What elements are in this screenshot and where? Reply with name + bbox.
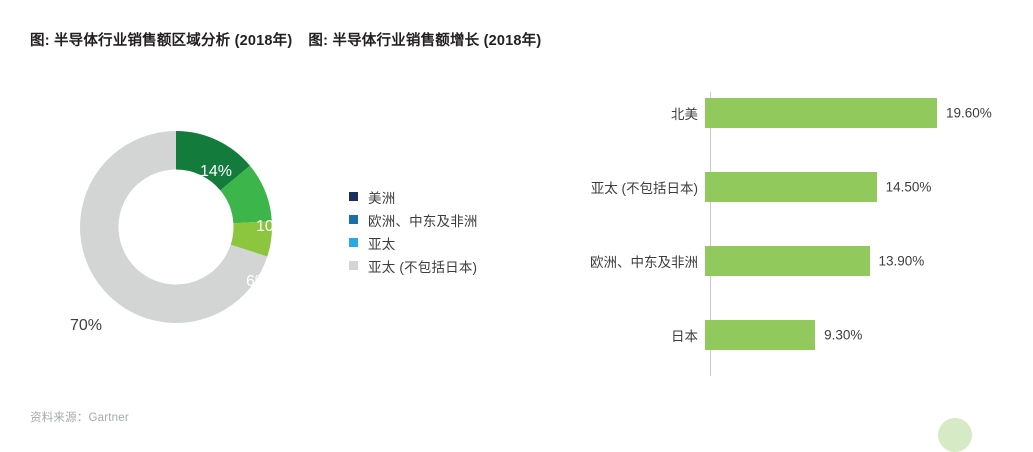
legend-item-3[interactable]: 亚太 (不包括日本) bbox=[349, 254, 529, 277]
legend-label-1: 欧洲、中东及非洲 bbox=[368, 210, 478, 230]
legend-swatch-icon-0 bbox=[349, 192, 358, 201]
bar-row-3[interactable]: 日本 9.30% bbox=[560, 320, 1010, 350]
bar-value-label-2: 13.90% bbox=[870, 254, 925, 269]
bar-fill-3 bbox=[705, 320, 815, 350]
page-title-right: 图: 半导体行业销售额增长 (2018年) bbox=[308, 29, 541, 50]
legend-label-0: 美洲 bbox=[368, 187, 395, 207]
legend-swatch-icon-2 bbox=[349, 238, 358, 247]
legend-label-2: 亚太 bbox=[368, 233, 395, 253]
bar-track-0: 19.60% bbox=[705, 98, 1010, 128]
circle-watermark-icon bbox=[938, 418, 972, 452]
bar-row-2[interactable]: 欧洲、中东及非洲 13.90% bbox=[560, 246, 1010, 276]
bar-track-1: 14.50% bbox=[705, 172, 1010, 202]
legend-swatch-icon-3 bbox=[349, 261, 358, 270]
legend-label-3: 亚太 (不包括日本) bbox=[368, 256, 477, 276]
legend-item-1[interactable]: 欧洲、中东及非洲 bbox=[349, 208, 529, 231]
bar-category-label-1: 亚太 (不包括日本) bbox=[560, 177, 704, 197]
bar-value-label-1: 14.50% bbox=[877, 180, 932, 195]
bar-value-label-3: 9.30% bbox=[815, 328, 862, 343]
bar-fill-2 bbox=[705, 246, 870, 276]
donut-legend: 美洲 欧洲、中东及非洲 亚太 亚太 (不包括日本) bbox=[349, 185, 529, 277]
bar-row-1[interactable]: 亚太 (不包括日本) 14.50% bbox=[560, 172, 1010, 202]
bar-category-label-2: 欧洲、中东及非洲 bbox=[560, 251, 704, 271]
bar-fill-0 bbox=[705, 98, 937, 128]
bar-row-0[interactable]: 北美 19.60% bbox=[560, 98, 1010, 128]
bar-category-label-3: 日本 bbox=[560, 325, 704, 345]
donut-chart: 14% 10% 6% 70% bbox=[78, 129, 274, 325]
legend-swatch-icon-1 bbox=[349, 215, 358, 224]
bar-fill-1 bbox=[705, 172, 877, 202]
bar-value-label-0: 19.60% bbox=[937, 106, 992, 121]
legend-item-0[interactable]: 美洲 bbox=[349, 185, 529, 208]
chart-titles: 图: 半导体行业销售额区域分析 (2018年) 图: 半导体行业销售额增长 (2… bbox=[30, 29, 541, 50]
bar-category-label-0: 北美 bbox=[560, 103, 704, 123]
legend-item-2[interactable]: 亚太 bbox=[349, 231, 529, 254]
bar-track-3: 9.30% bbox=[705, 320, 1010, 350]
donut-chart-svg bbox=[78, 129, 274, 325]
bar-chart: 北美 19.60% 亚太 (不包括日本) 14.50% 欧洲、中东及非洲 13.… bbox=[560, 92, 1010, 382]
bar-track-2: 13.90% bbox=[705, 246, 1010, 276]
source-note: 资料来源：Gartner bbox=[30, 409, 129, 425]
page-title-left: 图: 半导体行业销售额区域分析 (2018年) bbox=[30, 29, 292, 50]
